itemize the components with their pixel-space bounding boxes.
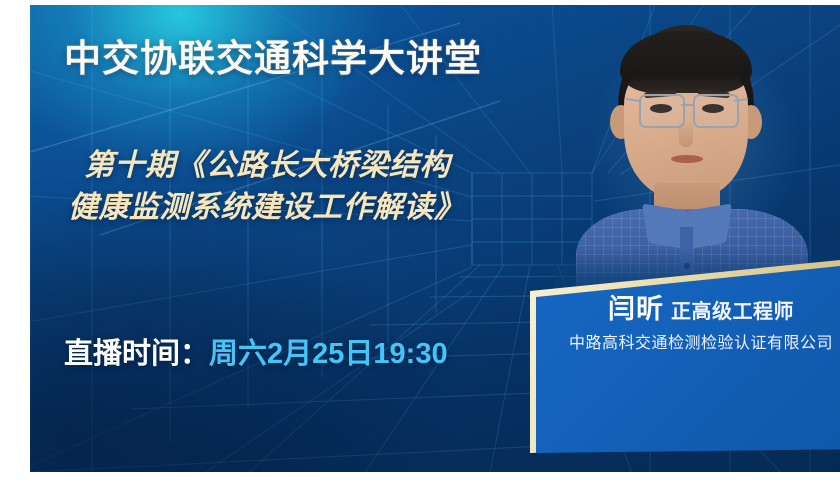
broadcast-time: 直播时间：周六2月25日19:30 [64, 330, 448, 372]
episode-subtitle-line-1: 第十期《公路长大桥梁结构 [68, 145, 588, 187]
poster-canvas: 中交协联交通科学大讲堂 第十期《公路长大桥梁结构 健康监测系统建设工作解读》 直… [30, 5, 840, 472]
glasses-lens-right-icon [693, 94, 739, 128]
episode-subtitle: 第十期《公路长大桥梁结构 健康监测系统建设工作解读》 [68, 145, 588, 229]
page-title: 中交协联交通科学大讲堂 [64, 28, 482, 82]
speaker-info-panel: 闫昕正高级工程师 中路高科交通检测检验认证有限公司 [498, 253, 840, 468]
glasses-bridge-icon [681, 104, 693, 106]
portrait-nose [679, 119, 693, 147]
speaker-name-row: 闫昕正高级工程师 [536, 287, 840, 326]
portrait-fringe [620, 31, 752, 93]
speaker-organization: 中路高科交通检测检验认证有限公司 [536, 329, 840, 353]
speaker-name: 闫昕 [608, 294, 664, 324]
speaker-panel-text: 闫昕正高级工程师 中路高科交通检测检验认证有限公司 [536, 253, 840, 453]
broadcast-time-value: 周六2月25日19:30 [209, 338, 448, 370]
broadcast-time-label: 直播时间： [64, 338, 209, 370]
episode-subtitle-line-2: 健康监测系统建设工作解读》 [68, 187, 588, 229]
speaker-role: 正高级工程师 [671, 301, 794, 323]
portrait-mouth [671, 155, 703, 163]
